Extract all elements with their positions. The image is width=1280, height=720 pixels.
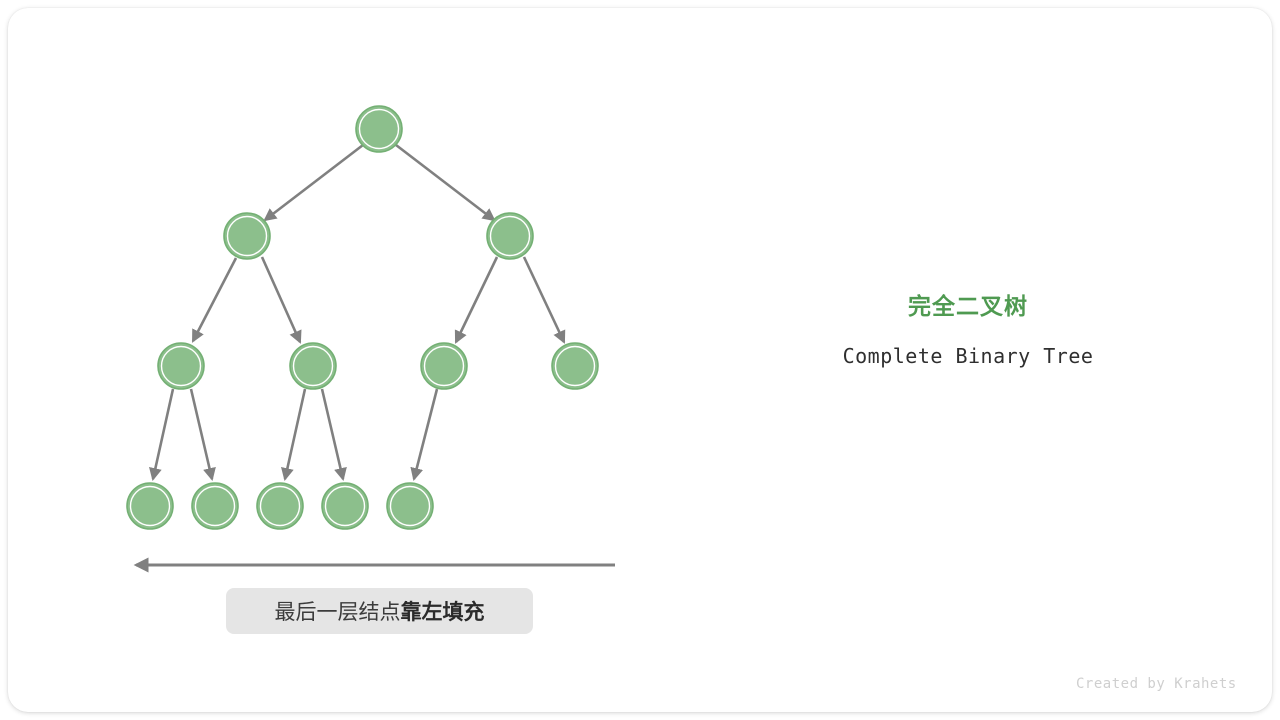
tree-node-n7 bbox=[552, 343, 598, 389]
edge-n5-n11 bbox=[322, 389, 343, 479]
diagram-title: 完全二叉树 bbox=[768, 292, 1168, 322]
edge-n3-n7 bbox=[524, 257, 564, 342]
annotation-pill: 最后一层结点靠左填充 bbox=[226, 588, 533, 634]
tree-node-n1 bbox=[356, 106, 402, 152]
tree-nodes bbox=[127, 106, 598, 529]
edge-n3-n6 bbox=[456, 257, 497, 342]
footer-credit: Created by Krahets bbox=[1076, 676, 1237, 692]
tree-node-n12 bbox=[387, 483, 433, 529]
tree-node-n2 bbox=[224, 213, 270, 259]
edge-n4-n8 bbox=[153, 389, 173, 479]
tree-node-n9 bbox=[192, 483, 238, 529]
tree-node-n8 bbox=[127, 483, 173, 529]
caption-block: 完全二叉树 Complete Binary Tree bbox=[768, 292, 1168, 368]
edge-n6-n12 bbox=[414, 389, 437, 479]
edge-n1-n3 bbox=[396, 145, 494, 220]
tree-node-n10 bbox=[257, 483, 303, 529]
tree-node-n6 bbox=[421, 343, 467, 389]
tree-node-n4 bbox=[158, 343, 204, 389]
tree-node-n11 bbox=[322, 483, 368, 529]
annotation-text-emphasis: 靠左填充 bbox=[401, 601, 485, 624]
edge-n2-n4 bbox=[193, 258, 236, 341]
tree-node-n5 bbox=[290, 343, 336, 389]
tree-edges bbox=[153, 145, 564, 479]
edge-n4-n9 bbox=[191, 389, 212, 479]
edge-n1-n2 bbox=[265, 145, 363, 220]
screenshot-root: 完全二叉树 Complete Binary Tree 最后一层结点靠左填充 Cr… bbox=[0, 0, 1280, 720]
annotation-text-normal: 最后一层结点 bbox=[275, 601, 401, 624]
edge-n5-n10 bbox=[285, 389, 305, 479]
edge-n2-n5 bbox=[262, 257, 300, 342]
diagram-subtitle: Complete Binary Tree bbox=[768, 344, 1168, 368]
annotation-text: 最后一层结点靠左填充 bbox=[275, 596, 485, 626]
tree-node-n3 bbox=[487, 213, 533, 259]
